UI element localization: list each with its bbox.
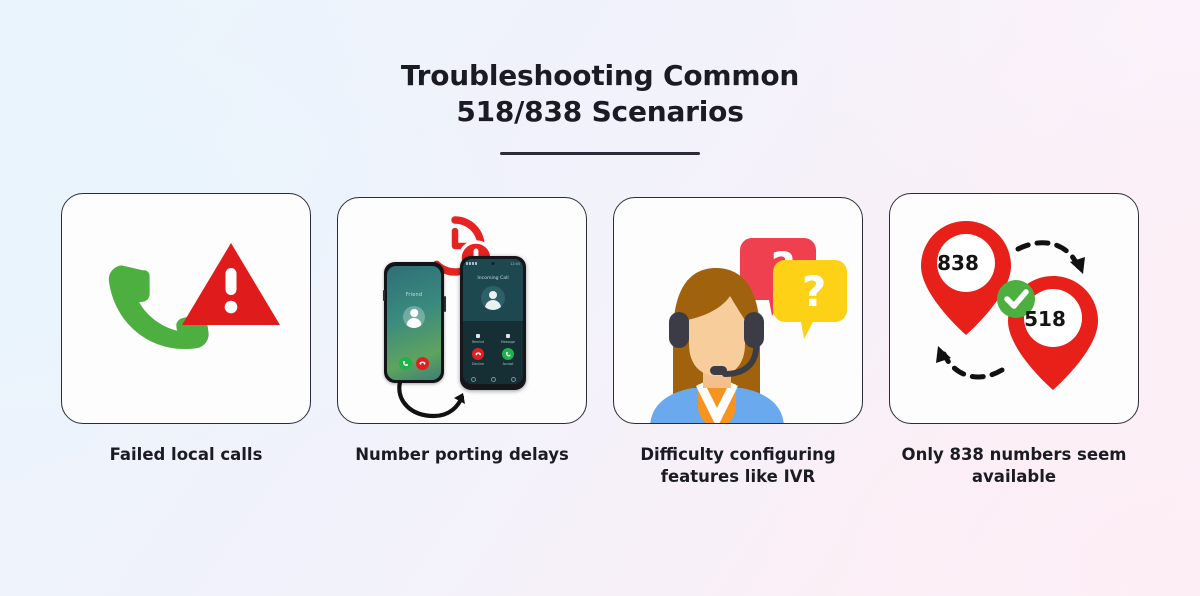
phone-right-status-label: Incoming Call [463, 276, 523, 281]
headset-earcup-left [669, 312, 689, 348]
phone-left-volume-button [383, 290, 385, 301]
map-pin-838-label: 838 [931, 251, 985, 275]
phone-right-decline-label: Decline [467, 362, 489, 366]
page-title: Troubleshooting Common 518/838 Scenarios [0, 58, 1200, 155]
phone-right-remind-label: Remind [467, 340, 489, 344]
swap-arrow-bottom [936, 346, 1002, 377]
phone-left-screen: Friend [387, 266, 441, 380]
card-4-caption: Only 838 numbers seem available [894, 444, 1134, 488]
phone-left-caller-name: Friend [387, 292, 441, 298]
card-2-caption: Number porting delays [355, 444, 569, 466]
phone-left: Friend [384, 262, 444, 383]
phone-right-accept-label: Accept [497, 362, 519, 366]
scenario-card-1[interactable]: Failed local calls [61, 193, 311, 488]
warning-triangle-icon [179, 238, 283, 330]
title-line-2: 518/838 Scenarios [0, 94, 1200, 130]
phone-right-message-icon[interactable] [506, 334, 510, 338]
phone-right-message-label: Message [497, 340, 519, 344]
question-bubble-yellow: ? [773, 260, 847, 339]
phone-right-decline-button[interactable] [472, 348, 484, 360]
card-3-frame: ? ? [613, 197, 863, 424]
map-pin-838 [921, 221, 1011, 335]
svg-text:?: ? [802, 267, 826, 316]
title-divider [500, 152, 700, 155]
phone-left-avatar [403, 306, 425, 328]
support-agent-icon: ? ? [626, 216, 852, 424]
phone-right-screen: 12:45 Incoming Call Remind Message [463, 259, 523, 384]
headset-mic [710, 366, 727, 375]
title-line-1: Troubleshooting Common [0, 58, 1200, 94]
phone-right-statusbar: 12:45 [466, 261, 520, 266]
transfer-arrow-icon [394, 380, 484, 424]
card-3-caption: Difficulty configuring features like IVR [618, 444, 858, 488]
card-4-frame: 838 518 [889, 193, 1139, 424]
scenario-card-4[interactable]: 838 518 Only 838 numbers seem available [889, 193, 1139, 488]
card-2-illustration: Friend [338, 198, 586, 423]
scenario-card-2[interactable]: Friend [337, 193, 587, 488]
scenario-card-3[interactable]: ? ? [613, 193, 863, 488]
map-pins-swap-icon [898, 204, 1132, 416]
card-4-illustration: 838 518 [890, 194, 1138, 423]
map-pin-518-label: 518 [1018, 307, 1072, 331]
infographic-canvas: Troubleshooting Common 518/838 Scenarios [0, 0, 1200, 596]
scenario-card-row: Failed local calls [61, 193, 1139, 488]
swap-arrow-top [1018, 243, 1085, 274]
phone-right-avatar [481, 286, 505, 310]
phone-left-decline-button[interactable] [416, 357, 429, 370]
card-2-frame: Friend [337, 197, 587, 424]
phone-left-accept-button[interactable] [399, 357, 412, 370]
phone-right-accept-button[interactable] [502, 348, 514, 360]
phone-right-remind-icon[interactable] [476, 334, 480, 338]
phone-right-time: 12:45 [510, 262, 520, 266]
phone-right: 12:45 Incoming Call Remind Message [460, 256, 526, 390]
card-1-frame [61, 193, 311, 424]
card-1-illustration [62, 194, 310, 423]
phone-left-power-button [444, 296, 446, 312]
card-1-caption: Failed local calls [110, 444, 263, 466]
card-3-illustration: ? ? [614, 198, 862, 423]
